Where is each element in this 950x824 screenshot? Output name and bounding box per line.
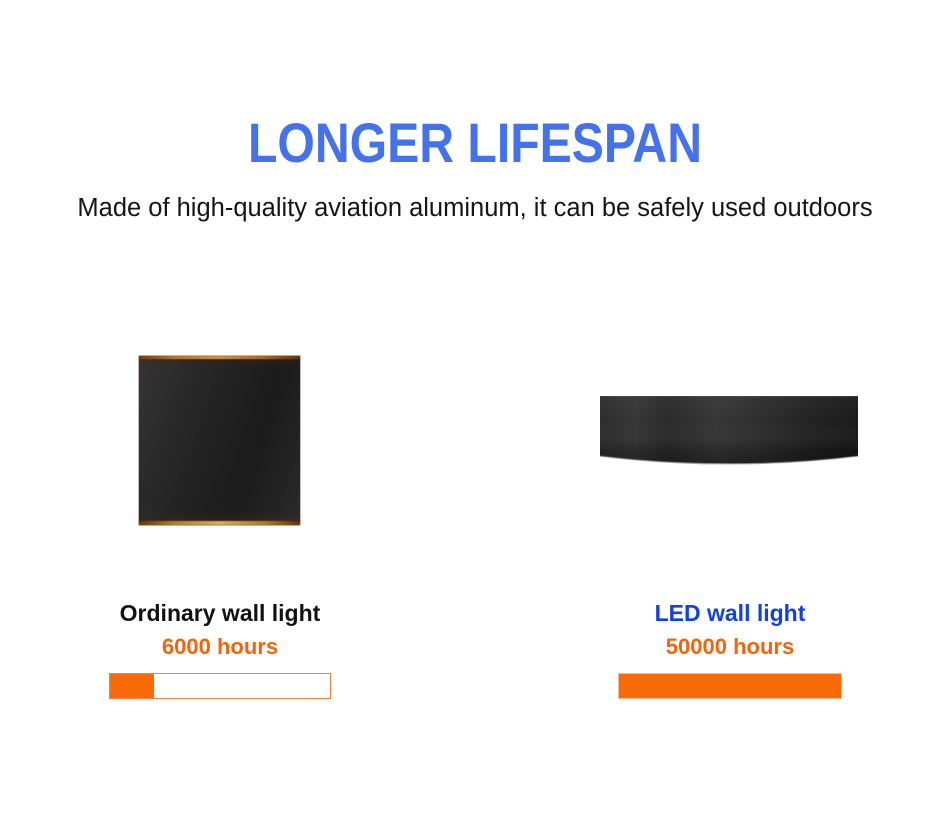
lamp-bottom-glow — [140, 521, 299, 525]
product-images — [0, 0, 950, 824]
led-lamp-name: LED wall light — [510, 598, 950, 628]
ordinary-lamp-stats: Ordinary wall light 6000 hours — [0, 598, 440, 699]
lamp-top-glow — [140, 356, 299, 359]
led-lamp-meter-fill — [619, 674, 841, 698]
ordinary-lamp-name: Ordinary wall light — [0, 598, 440, 628]
led-lamp-meter-wrap — [510, 673, 950, 699]
ordinary-square-wall-light-image — [139, 356, 300, 525]
comparison-infographic: LONGER LIFESPAN Made of high-quality avi… — [0, 0, 950, 824]
ordinary-lamp-lifespan-meter — [109, 673, 331, 699]
lamp-surface-sheen — [139, 356, 300, 525]
ordinary-lamp-meter-wrap — [0, 673, 440, 699]
led-lamp-stats: LED wall light 50000 hours — [510, 598, 950, 699]
led-bar-wall-light-image — [599, 394, 859, 468]
led-lamp-hours: 50000 hours — [510, 633, 950, 661]
led-bar-lamp-svg — [599, 394, 859, 468]
ordinary-lamp-hours: 6000 hours — [0, 633, 440, 661]
ordinary-lamp-meter-fill — [110, 674, 154, 698]
led-lamp-lifespan-meter — [618, 673, 842, 699]
